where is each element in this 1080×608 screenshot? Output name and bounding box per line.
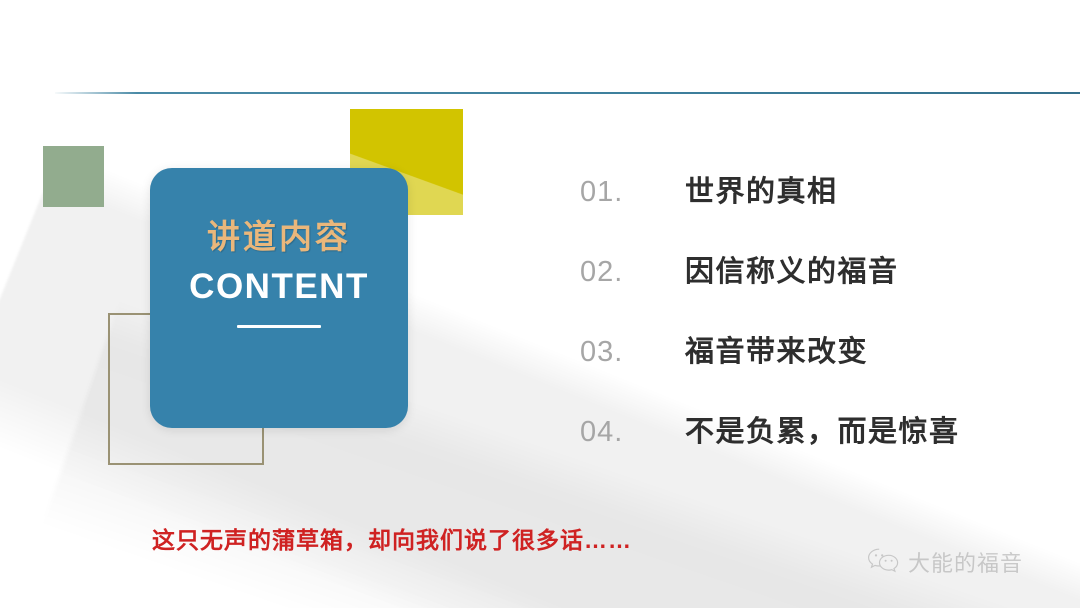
list-item-number: 01. <box>580 176 685 209</box>
watermark-label: 大能的福音 <box>908 546 1023 578</box>
top-divider-rule <box>55 92 1080 94</box>
slide-canvas: 讲道内容 CONTENT 01. 世界的真相 02. 因信称义的福音 03. 福… <box>0 0 1080 608</box>
agenda-list: 01. 世界的真相 02. 因信称义的福音 03. 福音带来改变 04. 不是负… <box>580 168 1040 488</box>
list-item-number: 02. <box>580 256 685 289</box>
red-caption-text: 这只无声的蒲草箱，却向我们说了很多话…… <box>152 521 632 555</box>
list-item-label: 因信称义的福音 <box>685 248 899 290</box>
wechat-icon <box>866 547 900 578</box>
list-item: 01. 世界的真相 <box>580 168 1040 248</box>
card-title-english: CONTENT <box>189 269 369 304</box>
list-item-number: 03. <box>580 336 685 369</box>
list-item: 04. 不是负累，而是惊喜 <box>580 408 1040 488</box>
list-item: 02. 因信称义的福音 <box>580 248 1040 328</box>
list-item-label: 福音带来改变 <box>685 328 868 370</box>
green-square-decoration <box>43 146 104 207</box>
list-item: 03. 福音带来改变 <box>580 328 1040 408</box>
list-item-number: 04. <box>580 416 685 449</box>
content-title-card: 讲道内容 CONTENT <box>150 168 408 428</box>
list-item-label: 不是负累，而是惊喜 <box>685 408 960 450</box>
card-title-chinese: 讲道内容 <box>207 220 351 253</box>
card-divider-line <box>237 325 321 328</box>
watermark: 大能的福音 <box>866 546 1023 578</box>
list-item-label: 世界的真相 <box>685 168 838 210</box>
